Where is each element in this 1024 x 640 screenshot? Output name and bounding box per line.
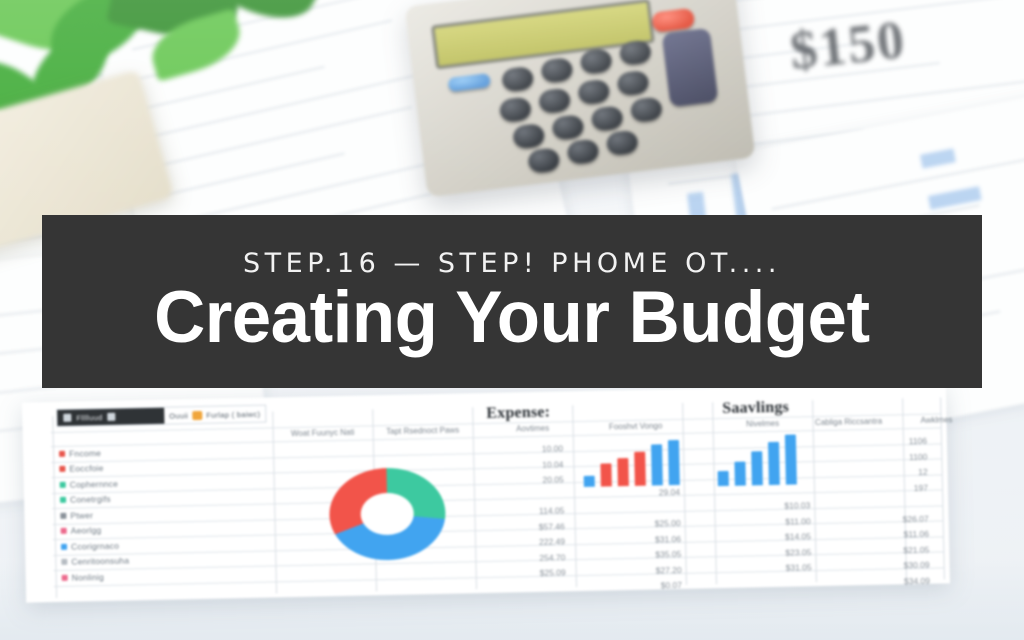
cell-value: 197 [834,480,928,497]
bar [617,458,629,486]
cell-value: $14.05 [715,529,811,547]
row-label: Cophernnce [70,478,119,489]
cell-value: $35.05 [585,547,681,565]
bar [634,452,646,486]
row-marker-icon [61,544,67,550]
title-banner: STEP.16 — STEP! PHOME OT.... Creating Yo… [42,215,982,388]
column-header: Awklmes [888,415,984,428]
cell-value: 114.05 [464,503,564,521]
cell-value: $31.05 [715,560,811,578]
cursor-icon [107,413,115,421]
cell-value: 222.49 [465,534,565,552]
section-title-expense: Expense: [486,404,550,423]
expense-value-column-right: 29.04 $25.00 $31.06 $35.05 $27.20 $0.07 [584,485,682,595]
cell-value: 10.00 [463,441,563,459]
cell-value: $25.00 [585,516,681,534]
toolbar-dark-group[interactable]: Flllluud [57,408,164,426]
row-label: Cenritoonsuha [71,556,129,567]
cell-value: $10.03 [714,498,810,516]
bar [768,442,780,485]
column-header: Woat Fuunyc Nati [275,427,371,440]
row-marker-icon [62,575,68,581]
column-header: Tapt Rsednoct Paws [375,425,471,438]
expense-value-column: 10.00 10.04 20.05 114.05 $57.46 222.49 2… [463,441,566,583]
list-item[interactable]: Nonlinig [56,567,206,586]
row-label: Ccorigrnaco [71,540,119,551]
bar [651,444,663,485]
row-marker-icon [59,451,65,457]
cell-value: 20.05 [464,472,564,490]
toolbar-label-1: Flllluud [76,413,102,423]
row-label-list: Fncome Eoccfoie Cophernnce Conetrgifs Pt… [53,443,206,586]
cell-value: $25.09 [466,565,566,583]
banner-eyebrow: STEP.16 — STEP! PHOME OT.... [243,248,781,279]
row-label: Conetrgifs [70,494,111,505]
cell-value: 29.04 [584,485,680,503]
row-marker-icon [60,497,66,503]
toolbar-light-group[interactable]: Ouuii Furlap ( baiwc) [164,409,265,420]
spreadsheet-dashboard: Flllluud Ouuii Furlap ( baiwc) Fncome Eo… [22,383,950,602]
row-label: Ptwer [70,510,93,520]
cell-value: 1106 [833,434,927,451]
cell-value: $0.07 [586,578,682,596]
cell-value: $34.09 [836,573,930,590]
bar [718,471,729,486]
column-header: Aovtimes [485,423,581,436]
bar [751,451,763,485]
recycle-icon [63,414,71,422]
folder-icon [192,410,202,419]
banner-headline: Creating Your Budget [154,281,869,355]
bar [600,463,611,486]
row-marker-icon [59,466,65,472]
cell-value: $30.09 [835,558,929,575]
toolbar-label-2: Ouuii [169,411,188,420]
bar [584,476,595,487]
row-marker-icon [60,482,66,488]
toolbar-label-3: Furlap ( baiwc) [206,409,260,419]
column-header: Cabliga Riccsantra [801,416,897,429]
row-label: Nonlinig [72,572,105,583]
bar [668,440,680,485]
row-marker-icon [60,513,66,519]
row-label: Aeorlgg [71,525,102,536]
bar [734,462,746,486]
expense-bar-chart [583,437,680,487]
savings-value-column: $10.03 $11.00 $14.05 $23.05 $31.05 [714,498,812,577]
column-header: Nivelmes [715,418,811,431]
row-marker-icon [61,528,67,534]
row-label: Eoccfoie [69,463,103,474]
savings-bar-chart [717,432,797,486]
cell-value: 1100 [833,449,927,466]
column-header: Fooshvt Vongo [588,421,684,434]
row-label: Fncome [69,448,101,459]
savings-value-column-right: 1106 1100 12 197 $26.07 $11.06 $21.05 $3… [833,434,930,591]
section-title-savings: Saavlings [722,399,789,418]
row-marker-icon [61,559,67,565]
bar [785,434,797,484]
cell-value: $11.06 [835,527,929,544]
